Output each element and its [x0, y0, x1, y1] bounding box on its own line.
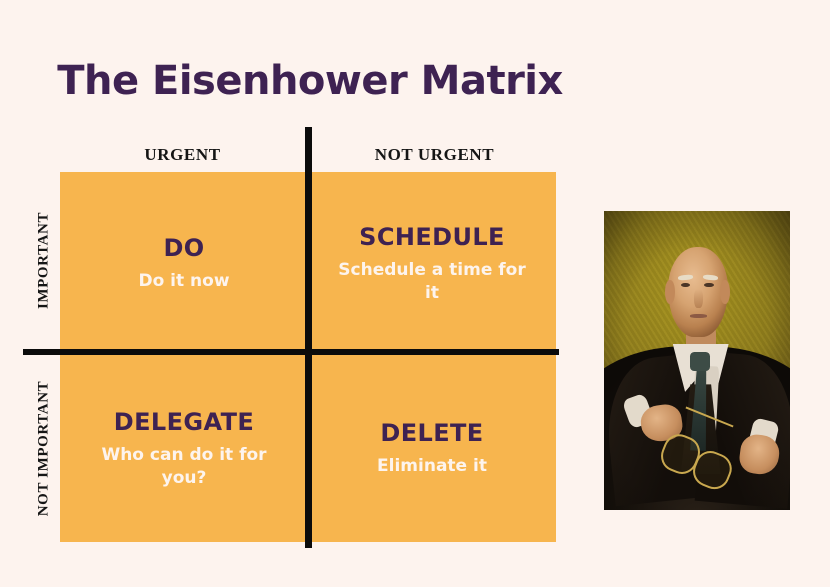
eisenhower-portrait-image	[604, 211, 790, 510]
quadrant-do-title: DO	[163, 236, 204, 261]
quadrant-schedule[interactable]: SCHEDULE Schedule a time for it	[308, 172, 556, 357]
column-header-not-urgent: NOT URGENT	[312, 145, 557, 165]
row-label-not-important: NOT IMPORTANT	[36, 339, 53, 559]
portrait-nose	[694, 289, 702, 308]
portrait-ear-left	[665, 280, 674, 304]
quadrant-delete-title: DELETE	[380, 421, 483, 446]
eisenhower-matrix-infographic: The Eisenhower Matrix URGENT NOT URGENT …	[0, 0, 830, 587]
vertical-divider	[305, 127, 312, 548]
row-label-important: IMPORTANT	[36, 171, 53, 351]
portrait-eyeglasses	[660, 420, 746, 486]
portrait-necktie-knot	[690, 352, 710, 371]
quadrant-do[interactable]: DO Do it now	[60, 172, 308, 357]
quadrant-do-description: Do it now	[138, 270, 229, 293]
quadrant-delete[interactable]: DELETE Eliminate it	[308, 357, 556, 542]
quadrant-delete-description: Eliminate it	[377, 455, 487, 478]
column-header-urgent: URGENT	[60, 145, 305, 165]
portrait-mouth	[690, 314, 707, 318]
page-title: The Eisenhower Matrix	[0, 58, 620, 104]
quadrant-delegate-description: Who can do it for you?	[89, 444, 279, 489]
horizontal-divider	[23, 349, 559, 355]
quadrant-schedule-description: Schedule a time for it	[337, 259, 527, 304]
quadrant-schedule-title: SCHEDULE	[359, 225, 505, 250]
portrait-ear-right	[720, 280, 729, 304]
quadrant-delegate[interactable]: DELEGATE Who can do it for you?	[60, 357, 308, 542]
portrait-eye-right	[704, 283, 713, 287]
quadrant-delegate-title: DELEGATE	[114, 410, 254, 435]
